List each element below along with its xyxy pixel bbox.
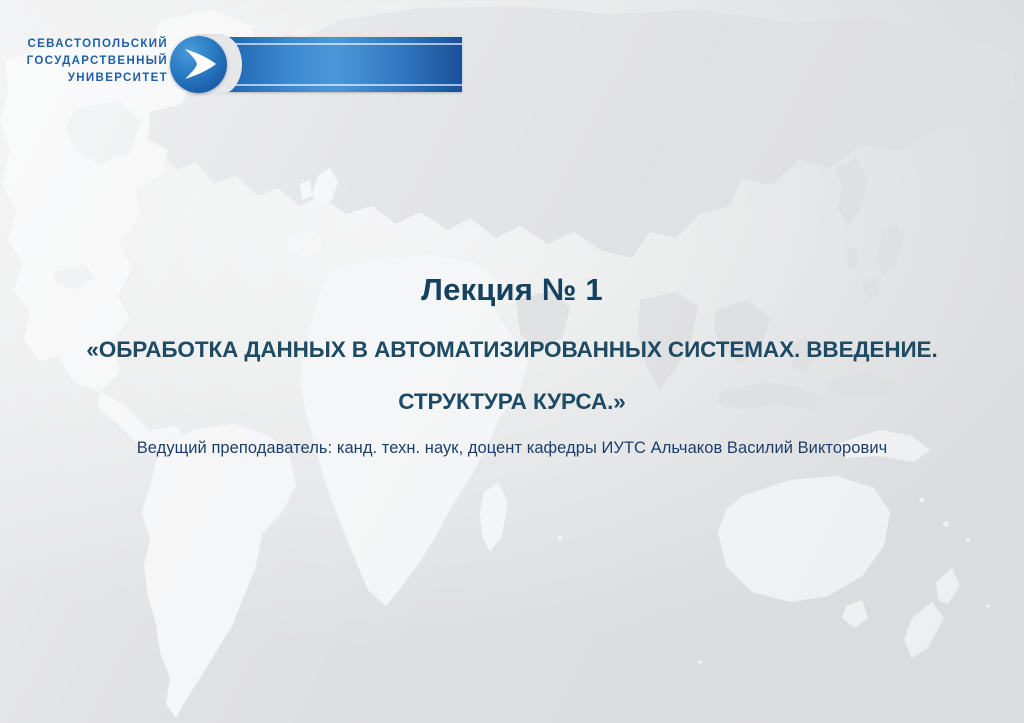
- header-banner-bar: [219, 37, 462, 92]
- subtitle-line-2: СТРУКТУРА КУРСА.»: [0, 376, 1024, 428]
- arrow-chevron-circle-icon: [170, 36, 227, 93]
- university-logo-text: СЕВАСТОПОЛЬСКИЙ ГОСУДАРСТВЕННЫЙ УНИВЕРСИ…: [8, 36, 168, 87]
- presenter-line: Ведущий преподаватель: канд. техн. наук,…: [0, 437, 1024, 459]
- presentation-slide: СЕВАСТОПОЛЬСКИЙ ГОСУДАРСТВЕННЫЙ УНИВЕРСИ…: [0, 0, 1024, 723]
- subtitle-line-1: «ОБРАБОТКА ДАННЫХ В АВТОМАТИЗИРОВАННЫХ С…: [0, 324, 1024, 376]
- title-block: Лекция № 1 «ОБРАБОТКА ДАННЫХ В АВТОМАТИЗ…: [0, 270, 1024, 428]
- logo-line-2: ГОСУДАРСТВЕННЫЙ: [8, 53, 168, 70]
- logo-line-1: СЕВАСТОПОЛЬСКИЙ: [8, 36, 168, 53]
- lecture-title: Лекция № 1: [0, 270, 1024, 310]
- logo-line-3: УНИВЕРСИТЕТ: [8, 70, 168, 87]
- slide-header: СЕВАСТОПОЛЬСКИЙ ГОСУДАРСТВЕННЫЙ УНИВЕРСИ…: [0, 0, 1024, 125]
